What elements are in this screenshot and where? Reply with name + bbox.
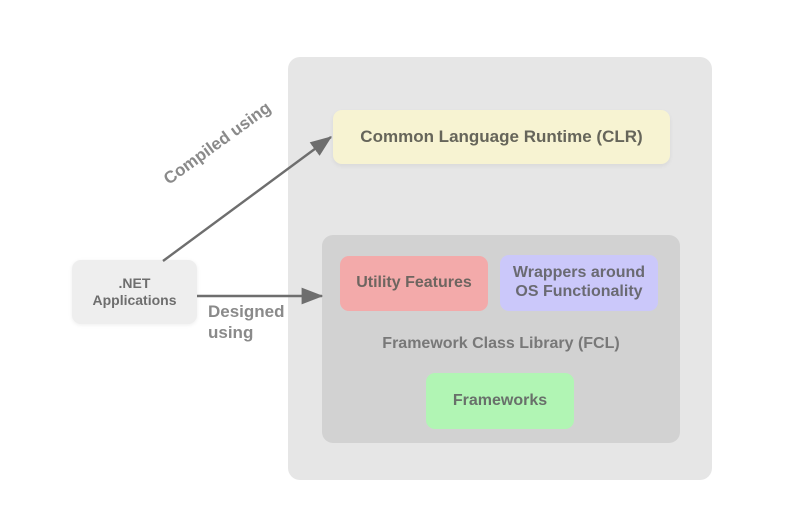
wrappers-around-os-functionality-box: Wrappers around OS Functionality: [500, 255, 658, 311]
diagram-canvas: Common Language Runtime (CLR) Framework …: [0, 0, 800, 526]
frameworks-box: Frameworks: [426, 373, 574, 429]
designed-using-label: Designed using: [208, 301, 285, 344]
compiled-using-label: Compiled using: [160, 98, 275, 189]
dotnet-applications-box: .NET Applications: [72, 260, 197, 324]
utility-features-box: Utility Features: [340, 256, 488, 311]
clr-box: Common Language Runtime (CLR): [333, 110, 670, 164]
fcl-label: Framework Class Library (FCL): [322, 331, 680, 357]
